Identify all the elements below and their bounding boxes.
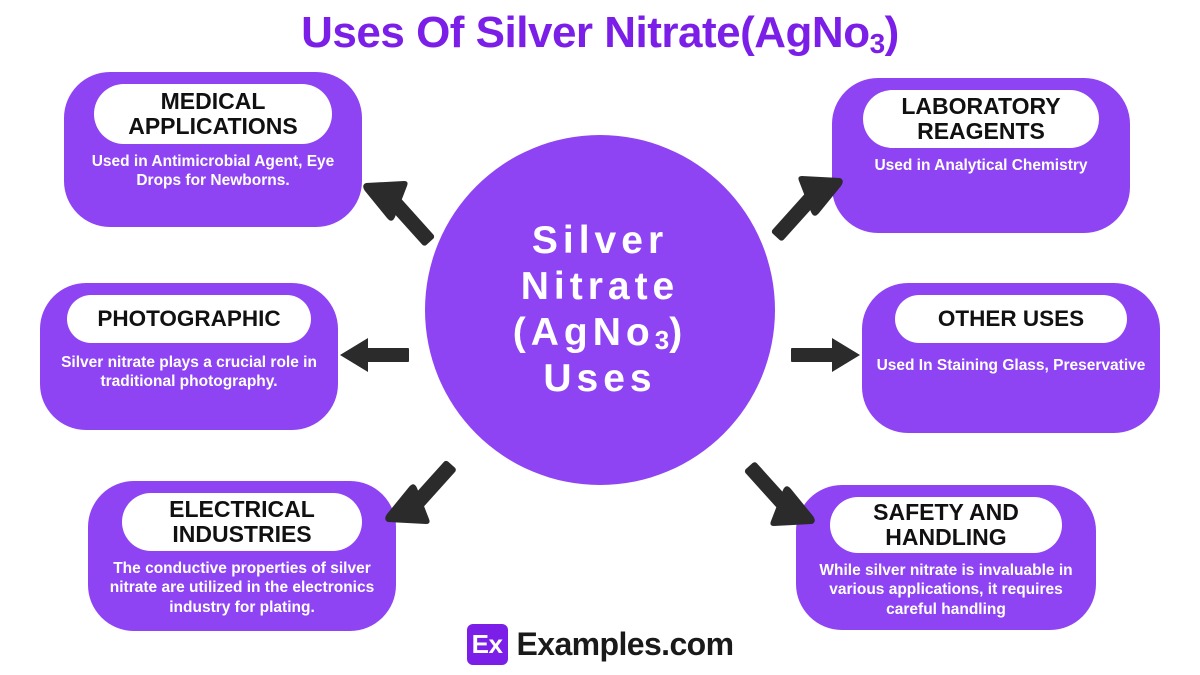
card-electrical-industries[interactable]: ELECTRICAL INDUSTRIES The conductive pro…	[88, 481, 396, 631]
card-safety-and-handling-heading: SAFETY AND HANDLING	[830, 497, 1062, 553]
card-laboratory-reagents[interactable]: LABORATORY REAGENTS Used in Analytical C…	[832, 78, 1130, 233]
arrow-up-left-icon	[360, 175, 436, 247]
card-safety-and-handling-body: While silver nitrate is invaluable in va…	[796, 561, 1096, 619]
page-title: Uses Of Silver Nitrate(AgNo3)	[0, 8, 1200, 60]
center-node-label: Silver Nitrate (AgNo3) Uses	[499, 218, 701, 402]
card-laboratory-reagents-heading: LABORATORY REAGENTS	[863, 90, 1099, 148]
card-other-uses-heading: OTHER USES	[895, 295, 1127, 343]
arrow-right-icon	[790, 336, 862, 374]
card-electrical-industries-heading: ELECTRICAL INDUSTRIES	[122, 493, 362, 551]
card-photographic[interactable]: PHOTOGRAPHIC Silver nitrate plays a cruc…	[40, 283, 338, 430]
card-safety-and-handling[interactable]: SAFETY AND HANDLING While silver nitrate…	[796, 485, 1096, 630]
page-title-tail: )	[885, 8, 899, 57]
card-photographic-heading: PHOTOGRAPHIC	[67, 295, 311, 343]
card-other-uses-body: Used In Staining Glass, Preservative	[862, 356, 1160, 375]
center-node: Silver Nitrate (AgNo3) Uses	[425, 135, 775, 485]
center-line-3-subscript: 3	[655, 325, 669, 355]
card-medical-applications[interactable]: MEDICAL APPLICATIONS Used in Antimicrobi…	[64, 72, 362, 227]
center-line-3-suffix: )	[669, 311, 687, 354]
center-line-1: Silver	[532, 219, 668, 262]
card-photographic-body: Silver nitrate plays a crucial role in t…	[40, 353, 338, 392]
card-medical-applications-heading: MEDICAL APPLICATIONS	[94, 84, 332, 144]
center-line-3-prefix: (AgNo	[513, 311, 655, 354]
arrow-down-right-icon	[742, 460, 820, 536]
arrow-left-icon	[338, 336, 410, 374]
arrow-down-left-icon	[382, 460, 458, 532]
card-electrical-industries-body: The conductive properties of silver nitr…	[88, 559, 396, 617]
center-line-4: Uses	[543, 357, 656, 400]
examples-logo-text: Examples.com	[517, 626, 734, 663]
page-title-main: Uses Of Silver Nitrate(AgNo	[301, 8, 869, 57]
page-title-subscript: 3	[870, 28, 885, 59]
footer-brand: Ex Examples.com	[0, 624, 1200, 665]
center-line-2: Nitrate	[521, 265, 680, 308]
examples-logo-icon: Ex	[467, 624, 508, 665]
arrow-up-right-icon	[770, 172, 848, 246]
infographic-canvas: Uses Of Silver Nitrate(AgNo3) Silver Nit…	[0, 0, 1200, 675]
card-laboratory-reagents-body: Used in Analytical Chemistry	[832, 156, 1130, 175]
card-medical-applications-body: Used in Antimicrobial Agent, Eye Drops f…	[64, 152, 362, 191]
card-other-uses[interactable]: OTHER USES Used In Staining Glass, Prese…	[862, 283, 1160, 433]
